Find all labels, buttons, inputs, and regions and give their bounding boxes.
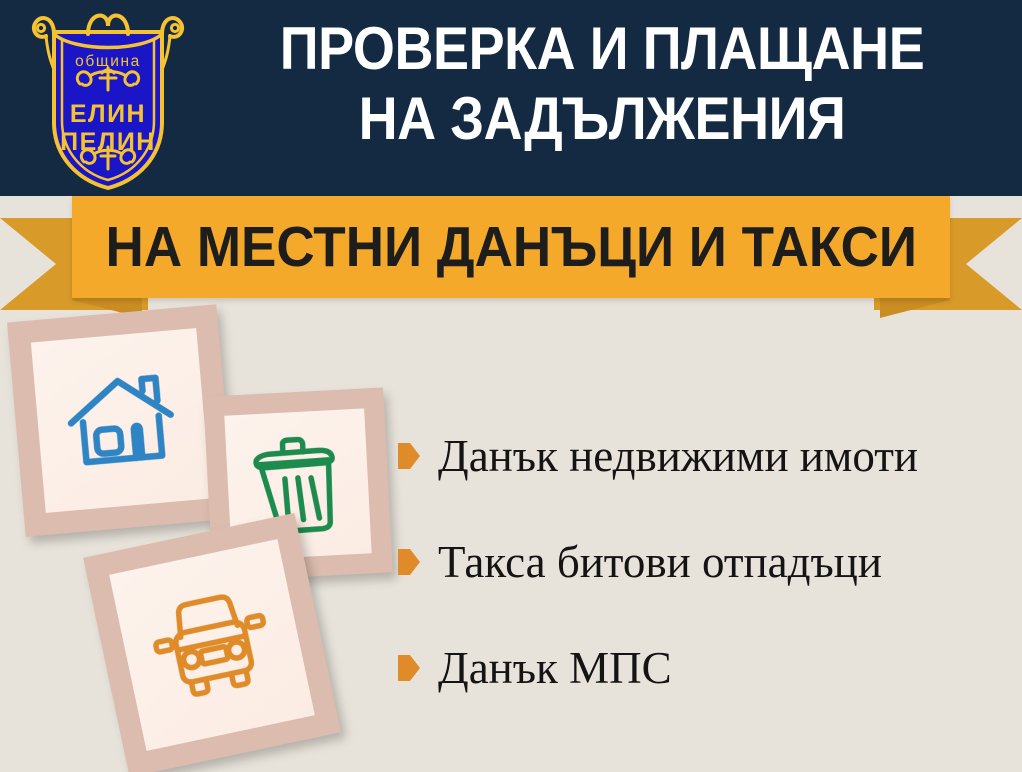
ribbon-fold-right: [880, 292, 950, 318]
header-banner: община ЕЛИН ПЕЛИН: [0, 0, 1022, 196]
header-title-line-1: ПРОВЕРКА И ПЛАЩАНЕ: [237, 14, 968, 84]
list-item[interactable]: Такса битови отпадъци: [398, 534, 1008, 590]
house-icon: [61, 366, 181, 475]
header-title-block: ПРОВЕРКА И ПЛАЩАНЕ НА ЗАДЪЛЖЕНИЯ: [196, 14, 1008, 154]
stamp-card-car: [83, 513, 341, 772]
municipality-logo: община ЕЛИН ПЕЛИН: [22, 4, 194, 192]
arrow-bullet-icon: [398, 549, 420, 575]
ribbon-tail-left: [0, 218, 148, 310]
car-icon-container: [83, 513, 341, 772]
svg-text:ЕЛИН: ЕЛИН: [70, 100, 146, 128]
poster-canvas: община ЕЛИН ПЕЛИН: [0, 0, 1022, 772]
elin-pelin-coat-of-arms-icon: община ЕЛИН ПЕЛИН: [22, 4, 194, 192]
ribbon-tail-right: [874, 218, 1022, 310]
subtitle-ribbon: НА МЕСТНИ ДАНЪЦИ И ТАКСИ: [0, 196, 1022, 314]
house-icon-container: [7, 304, 235, 536]
obligation-type-list: Данък недвижими имоти Такса битови отпад…: [398, 428, 1008, 746]
list-item[interactable]: Данък МПС: [398, 640, 1008, 696]
ribbon-label: НА МЕСТНИ ДАНЪЦИ И ТАКСИ: [105, 217, 916, 277]
car-icon: [143, 582, 280, 708]
list-item-label: Данък недвижими имоти: [438, 431, 918, 481]
arrow-bullet-icon: [398, 443, 420, 469]
list-item[interactable]: Данък недвижими имоти: [398, 428, 1008, 484]
stamp-card-house: [7, 304, 235, 536]
arrow-bullet-icon: [398, 655, 420, 681]
header-title-line-2: НА ЗАДЪЛЖЕНИЯ: [237, 84, 968, 154]
ribbon-body: НА МЕСТНИ ДАНЪЦИ И ТАКСИ: [72, 196, 950, 298]
list-item-label: Данък МПС: [438, 643, 672, 693]
list-item-label: Такса битови отпадъци: [438, 537, 882, 587]
